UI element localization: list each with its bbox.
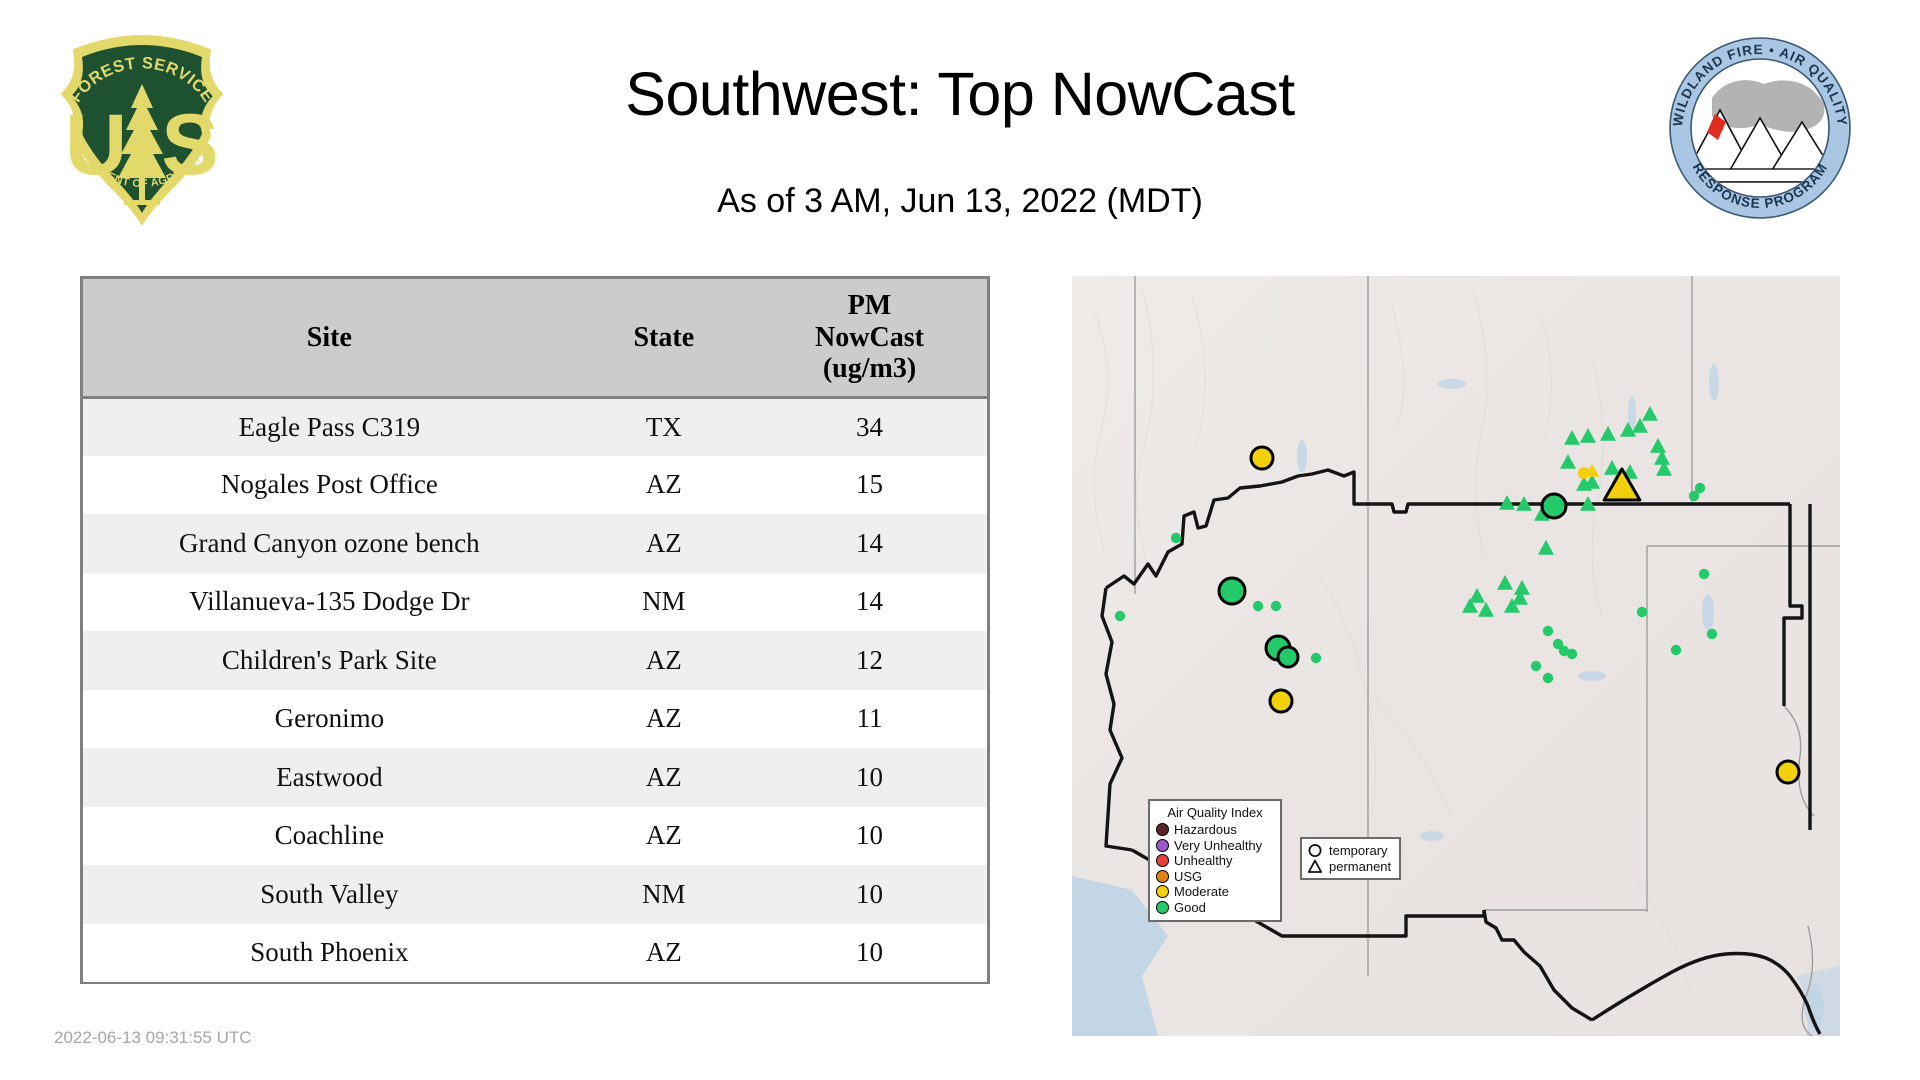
column-header-site: Site bbox=[83, 279, 576, 397]
cell-pm-nowcast: 14 bbox=[752, 514, 987, 573]
cell-site: Nogales Post Office bbox=[83, 456, 576, 515]
cell-site: Eagle Pass C319 bbox=[83, 397, 576, 456]
cell-state: AZ bbox=[576, 456, 752, 515]
smoke-plume bbox=[1712, 80, 1824, 132]
table-row: Eagle Pass C319TX34 bbox=[83, 397, 987, 456]
table-row: CoachlineAZ10 bbox=[83, 807, 987, 866]
aqi-legend-label: USG bbox=[1174, 869, 1202, 884]
triangle-icon bbox=[1307, 859, 1323, 874]
table-row: Grand Canyon ozone benchAZ14 bbox=[83, 514, 987, 573]
us-forest-service-shield-logo: FOREST SERVICE DEPARTMENT OF AGRICULTURE… bbox=[52, 32, 232, 228]
aqi-legend-label: Very Unhealthy bbox=[1174, 838, 1262, 853]
monitor-marker-good-dot[interactable] bbox=[1271, 601, 1281, 611]
air-quality-map[interactable]: Air Quality Index HazardousVery Unhealth… bbox=[1072, 276, 1840, 1036]
aqi-legend-row: USG bbox=[1156, 869, 1274, 885]
aqi-swatch-hazardous bbox=[1156, 823, 1169, 836]
generation-timestamp: 2022-06-13 09:31:55 UTC bbox=[54, 1028, 252, 1048]
cell-pm-nowcast: 10 bbox=[752, 748, 987, 807]
aqi-swatch-good bbox=[1156, 901, 1169, 914]
aqi-legend-row: Good bbox=[1156, 900, 1274, 916]
pm-header-line-2: NowCast bbox=[752, 322, 987, 353]
cell-pm-nowcast: 10 bbox=[752, 807, 987, 866]
cell-state: NM bbox=[576, 573, 752, 632]
monitor-marker-good-circle[interactable] bbox=[1219, 578, 1245, 604]
table-header-row: Site State PM NowCast (ug/m3) bbox=[83, 279, 987, 397]
table-row: South ValleyNM10 bbox=[83, 865, 987, 924]
monitor-marker-good-dot[interactable] bbox=[1311, 653, 1321, 663]
page-subtitle: As of 3 AM, Jun 13, 2022 (MDT) bbox=[300, 182, 1620, 221]
monitor-marker-good-circle[interactable] bbox=[1542, 494, 1566, 518]
aqi-legend: Air Quality Index HazardousVery Unhealth… bbox=[1148, 799, 1282, 922]
cell-site: Grand Canyon ozone bench bbox=[83, 514, 576, 573]
aqi-legend-row: Moderate bbox=[1156, 884, 1274, 900]
cell-pm-nowcast: 15 bbox=[752, 456, 987, 515]
cell-site: South Phoenix bbox=[83, 924, 576, 983]
aqi-swatch-unhealthy bbox=[1156, 854, 1169, 867]
legend-row-temporary: temporary bbox=[1307, 842, 1391, 858]
monitor-marker-good-dot[interactable] bbox=[1543, 673, 1553, 683]
aqi-legend-row: Very Unhealthy bbox=[1156, 838, 1274, 854]
cell-site: Children's Park Site bbox=[83, 631, 576, 690]
aqi-legend-label: Hazardous bbox=[1174, 822, 1237, 837]
monitor-marker-good-dot[interactable] bbox=[1567, 649, 1577, 659]
cell-state: AZ bbox=[576, 514, 752, 573]
aqi-legend-label: Unhealthy bbox=[1174, 853, 1233, 868]
slide-root: FOREST SERVICE DEPARTMENT OF AGRICULTURE… bbox=[0, 0, 1920, 1080]
column-header-pm-nowcast: PM NowCast (ug/m3) bbox=[752, 279, 987, 397]
cell-pm-nowcast: 12 bbox=[752, 631, 987, 690]
legend-row-permanent: permanent bbox=[1307, 858, 1391, 874]
monitor-marker-good-dot[interactable] bbox=[1637, 607, 1647, 617]
table-row: Nogales Post OfficeAZ15 bbox=[83, 456, 987, 515]
table-row: Villanueva-135 Dodge DrNM14 bbox=[83, 573, 987, 632]
terrain-background bbox=[1072, 276, 1840, 1036]
cell-pm-nowcast: 14 bbox=[752, 573, 987, 632]
aqi-legend-row: Hazardous bbox=[1156, 822, 1274, 838]
table-row: South PhoenixAZ10 bbox=[83, 924, 987, 983]
cell-site: Eastwood bbox=[83, 748, 576, 807]
cell-site: Coachline bbox=[83, 807, 576, 866]
monitor-marker-good-dot[interactable] bbox=[1543, 626, 1553, 636]
cell-state: NM bbox=[576, 865, 752, 924]
circle-icon bbox=[1307, 843, 1323, 858]
nowcast-table: Site State PM NowCast (ug/m3) Eagle Pass… bbox=[80, 276, 990, 984]
monitor-marker-moderate-circle[interactable] bbox=[1578, 467, 1590, 479]
monitor-marker-good-dot[interactable] bbox=[1707, 629, 1717, 639]
monitor-marker-good-dot[interactable] bbox=[1253, 601, 1263, 611]
cell-state: TX bbox=[576, 397, 752, 456]
cell-state: AZ bbox=[576, 807, 752, 866]
aqi-legend-title: Air Quality Index bbox=[1156, 805, 1274, 820]
monitor-marker-moderate-circle[interactable] bbox=[1270, 690, 1292, 712]
legend-label-temporary: temporary bbox=[1329, 843, 1388, 858]
cell-state: AZ bbox=[576, 748, 752, 807]
usfs-letter-s: S bbox=[161, 97, 218, 193]
cell-pm-nowcast: 10 bbox=[752, 924, 987, 983]
cell-pm-nowcast: 34 bbox=[752, 397, 987, 456]
usfs-letter-u: U bbox=[65, 97, 127, 193]
pm-header-line-1: PM bbox=[752, 290, 987, 321]
aqi-legend-label: Moderate bbox=[1174, 884, 1229, 899]
column-header-state: State bbox=[576, 279, 752, 397]
cell-site: Geronimo bbox=[83, 690, 576, 749]
table-row: Children's Park SiteAZ12 bbox=[83, 631, 987, 690]
monitor-marker-good-dot[interactable] bbox=[1531, 661, 1541, 671]
legend-label-permanent: permanent bbox=[1329, 859, 1391, 874]
page-title: Southwest: Top NowCast bbox=[300, 62, 1620, 126]
table-row: GeronimoAZ11 bbox=[83, 690, 987, 749]
monitor-marker-good-circle[interactable] bbox=[1278, 647, 1298, 667]
monitor-marker-good-dot[interactable] bbox=[1115, 611, 1125, 621]
monitor-marker-moderate-circle[interactable] bbox=[1251, 447, 1273, 469]
aqi-swatch-usg bbox=[1156, 870, 1169, 883]
monitor-marker-good-dot[interactable] bbox=[1699, 569, 1709, 579]
cell-state: AZ bbox=[576, 924, 752, 983]
cell-state: AZ bbox=[576, 631, 752, 690]
monitor-marker-good-dot[interactable] bbox=[1171, 533, 1181, 543]
cell-site: South Valley bbox=[83, 865, 576, 924]
aqi-swatch-moderate bbox=[1156, 885, 1169, 898]
monitor-type-legend: temporary permanent bbox=[1300, 837, 1401, 880]
monitor-marker-good-dot[interactable] bbox=[1671, 645, 1681, 655]
wildland-fire-air-quality-seal-logo: WILDLAND FIRE • AIR QUALITY RESPONSE PRO… bbox=[1668, 36, 1852, 220]
table-row: EastwoodAZ10 bbox=[83, 748, 987, 807]
cell-pm-nowcast: 11 bbox=[752, 690, 987, 749]
monitor-marker-good-dot[interactable] bbox=[1695, 483, 1705, 493]
aqi-swatch-very-unhealthy bbox=[1156, 839, 1169, 852]
monitor-marker-moderate-circle[interactable] bbox=[1777, 761, 1799, 783]
cell-state: AZ bbox=[576, 690, 752, 749]
cell-site: Villanueva-135 Dodge Dr bbox=[83, 573, 576, 632]
cell-pm-nowcast: 10 bbox=[752, 865, 987, 924]
aqi-legend-row: Unhealthy bbox=[1156, 853, 1274, 869]
pm-header-line-3: (ug/m3) bbox=[752, 353, 987, 384]
map-canvas bbox=[1072, 276, 1840, 1036]
aqi-legend-label: Good bbox=[1174, 900, 1206, 915]
